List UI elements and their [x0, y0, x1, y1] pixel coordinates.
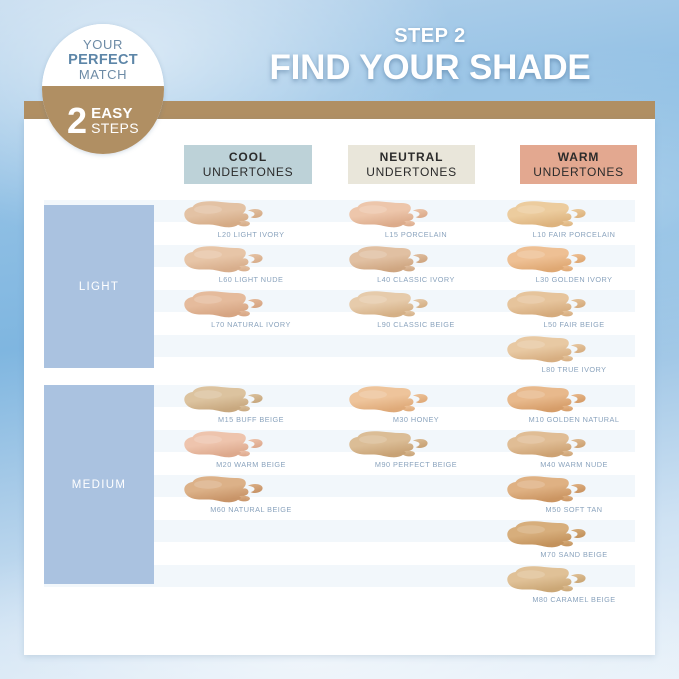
page-title: FIND YOUR SHADE: [200, 48, 660, 87]
shade-cell[interactable]: L70 NATURAL IVORY: [175, 290, 335, 335]
shade-cell[interactable]: M90 PERFECT BEIGE: [340, 430, 500, 475]
shade-swatch-icon: [504, 245, 590, 275]
shade-swatch-icon: [504, 565, 590, 595]
shade-name-label: M60 NATURAL BEIGE: [175, 505, 327, 514]
step-label: STEP 2: [200, 26, 660, 47]
shade-name-label: M10 GOLDEN NATURAL: [498, 415, 650, 424]
shade-swatch-icon: [504, 520, 590, 550]
section-label: MEDIUM: [72, 479, 126, 491]
poster-background: STEP 2 FIND YOUR SHADE LIGHTMEDIUML20 LI…: [0, 0, 679, 679]
shade-cell[interactable]: L20 LIGHT IVORY: [175, 200, 335, 245]
badge-word-steps: STEPS: [91, 121, 139, 136]
shade-swatch-icon: [504, 475, 590, 505]
shade-name-label: M70 SAND BEIGE: [498, 550, 650, 559]
badge-step-number: 2: [67, 106, 87, 137]
shade-swatch-icon: [181, 200, 267, 230]
shade-name-label: M40 WARM NUDE: [498, 460, 650, 469]
shade-cell[interactable]: L80 TRUE IVORY: [498, 335, 658, 380]
shade-name-label: L80 TRUE IVORY: [498, 365, 650, 374]
badge-bottom-half: 2 EASY STEPS: [42, 86, 164, 154]
undertone-header-subtitle: UNDERTONES: [366, 165, 457, 179]
shade-cell[interactable]: M15 BUFF BEIGE: [175, 385, 335, 430]
shade-swatch-icon: [504, 385, 590, 415]
shade-cell[interactable]: M30 HONEY: [340, 385, 500, 430]
shade-swatch-icon: [181, 385, 267, 415]
shade-name-label: L30 GOLDEN IVORY: [498, 275, 650, 284]
section-block-light: LIGHT: [44, 205, 154, 368]
undertone-header-neutral: NEUTRALUNDERTONES: [348, 145, 475, 184]
shade-name-label: L10 FAIR PORCELAIN: [498, 230, 650, 239]
shade-swatch-icon: [181, 290, 267, 320]
undertone-header-subtitle: UNDERTONES: [203, 165, 294, 179]
shade-swatch-icon: [504, 430, 590, 460]
shade-swatch-icon: [181, 475, 267, 505]
shade-cell[interactable]: L60 LIGHT NUDE: [175, 245, 335, 290]
shade-cell[interactable]: L50 FAIR BEIGE: [498, 290, 658, 335]
header: STEP 2 FIND YOUR SHADE: [200, 26, 660, 87]
shade-name-label: L15 PORCELAIN: [340, 230, 492, 239]
shade-name-label: M20 WARM BEIGE: [175, 460, 327, 469]
badge-word-easy: EASY: [91, 106, 133, 121]
badge-line-1: YOUR: [83, 38, 123, 53]
shade-cell[interactable]: M10 GOLDEN NATURAL: [498, 385, 658, 430]
shade-cell[interactable]: M20 WARM BEIGE: [175, 430, 335, 475]
shade-name-label: L70 NATURAL IVORY: [175, 320, 327, 329]
shade-name-label: M30 HONEY: [340, 415, 492, 424]
section-block-medium: MEDIUM: [44, 385, 154, 584]
undertone-header-warm: WARMUNDERTONES: [520, 145, 637, 184]
shade-swatch-icon: [346, 245, 432, 275]
shade-swatch-icon: [346, 430, 432, 460]
shade-swatch-icon: [346, 290, 432, 320]
shade-name-label: L20 LIGHT IVORY: [175, 230, 327, 239]
shade-cell[interactable]: M40 WARM NUDE: [498, 430, 658, 475]
shade-cell[interactable]: M70 SAND BEIGE: [498, 520, 658, 565]
shade-name-label: M50 SOFT TAN: [498, 505, 650, 514]
undertone-header-cool: COOLUNDERTONES: [184, 145, 312, 184]
shade-swatch-icon: [504, 200, 590, 230]
shade-swatch-icon: [346, 200, 432, 230]
undertone-header-title: WARM: [558, 150, 600, 164]
shade-swatch-icon: [346, 385, 432, 415]
badge-line-2: PERFECT: [68, 52, 138, 68]
shade-name-label: L60 LIGHT NUDE: [175, 275, 327, 284]
shade-name-label: L90 CLASSIC BEIGE: [340, 320, 492, 329]
undertone-header-subtitle: UNDERTONES: [533, 165, 624, 179]
shade-cell[interactable]: L90 CLASSIC BEIGE: [340, 290, 500, 335]
shade-cell[interactable]: L40 CLASSIC IVORY: [340, 245, 500, 290]
undertone-header-title: NEUTRAL: [380, 150, 444, 164]
shade-swatch-icon: [181, 245, 267, 275]
badge-top-half: YOUR PERFECT MATCH: [42, 24, 164, 86]
shade-swatch-icon: [181, 430, 267, 460]
badge-words: EASY STEPS: [91, 106, 139, 136]
shade-cell[interactable]: L10 FAIR PORCELAIN: [498, 200, 658, 245]
shade-cell[interactable]: M50 SOFT TAN: [498, 475, 658, 520]
undertone-header-title: COOL: [229, 150, 267, 164]
shade-swatch-icon: [504, 335, 590, 365]
section-label: LIGHT: [79, 281, 119, 293]
shade-cell[interactable]: M60 NATURAL BEIGE: [175, 475, 335, 520]
shade-name-label: M80 CARAMEL BEIGE: [498, 595, 650, 604]
shade-cell[interactable]: L30 GOLDEN IVORY: [498, 245, 658, 290]
shade-name-label: M15 BUFF BEIGE: [175, 415, 327, 424]
shade-swatch-icon: [504, 290, 590, 320]
shade-name-label: M90 PERFECT BEIGE: [340, 460, 492, 469]
shade-cell[interactable]: L15 PORCELAIN: [340, 200, 500, 245]
shade-name-label: L40 CLASSIC IVORY: [340, 275, 492, 284]
badge-line-3: MATCH: [79, 68, 127, 83]
shade-cell[interactable]: M80 CARAMEL BEIGE: [498, 565, 658, 610]
shade-name-label: L50 FAIR BEIGE: [498, 320, 650, 329]
perfect-match-badge: YOUR PERFECT MATCH 2 EASY STEPS: [42, 24, 164, 154]
